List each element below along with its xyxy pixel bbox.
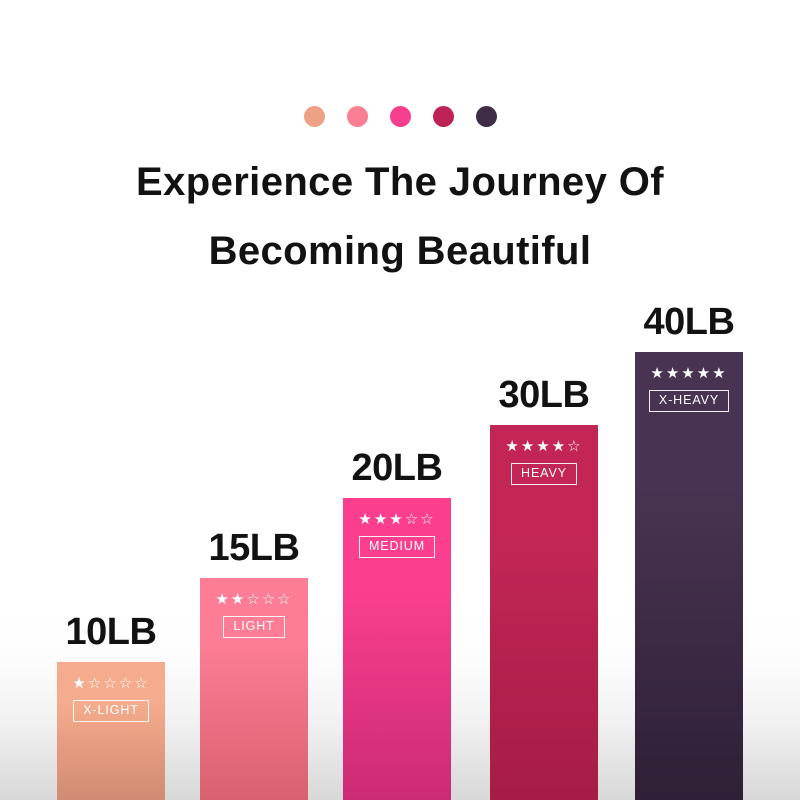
resistance-level-label: LIGHT <box>223 616 284 638</box>
bar-group[interactable]: 40LB★★★★★X-HEAVY <box>635 352 743 800</box>
bar-value-label: 20LB <box>352 447 443 490</box>
bar-column[interactable]: ★★★★☆HEAVY <box>490 425 598 800</box>
resistance-level-label: X-HEAVY <box>649 390 729 412</box>
star-rating-icon: ★★☆☆☆ <box>200 592 308 607</box>
resistance-band-bar-chart: 10LB★☆☆☆☆X-LIGHT15LB★★☆☆☆LIGHT20LB★★★☆☆M… <box>0 0 800 800</box>
bar-group[interactable]: 15LB★★☆☆☆LIGHT <box>200 578 308 800</box>
star-rating-icon: ★★★☆☆ <box>343 512 451 527</box>
bar-group[interactable]: 10LB★☆☆☆☆X-LIGHT <box>57 662 165 800</box>
bar-value-label: 15LB <box>209 527 300 570</box>
product-poster: Experience The Journey Of Becoming Beaut… <box>0 0 800 800</box>
bar-column[interactable]: ★★★★★X-HEAVY <box>635 352 743 800</box>
star-rating-icon: ★★★★★ <box>635 366 743 381</box>
bar-column[interactable]: ★★☆☆☆LIGHT <box>200 578 308 800</box>
resistance-level-label: MEDIUM <box>359 536 435 558</box>
bar-column[interactable]: ★☆☆☆☆X-LIGHT <box>57 662 165 800</box>
bar-group[interactable]: 20LB★★★☆☆MEDIUM <box>343 498 451 800</box>
resistance-level-label: X-LIGHT <box>73 700 149 722</box>
bar-badge: ★★★★★X-HEAVY <box>635 352 743 412</box>
bar-group[interactable]: 30LB★★★★☆HEAVY <box>490 425 598 800</box>
star-rating-icon: ★☆☆☆☆ <box>57 676 165 691</box>
bar-badge: ★★☆☆☆LIGHT <box>200 578 308 638</box>
bar-value-label: 10LB <box>66 611 157 654</box>
bar-column[interactable]: ★★★☆☆MEDIUM <box>343 498 451 800</box>
star-rating-icon: ★★★★☆ <box>490 439 598 454</box>
bar-value-label: 30LB <box>499 374 590 417</box>
bar-badge: ★★★☆☆MEDIUM <box>343 498 451 558</box>
bar-badge: ★★★★☆HEAVY <box>490 425 598 485</box>
bar-value-label: 40LB <box>644 301 735 344</box>
resistance-level-label: HEAVY <box>511 463 577 485</box>
bar-badge: ★☆☆☆☆X-LIGHT <box>57 662 165 722</box>
